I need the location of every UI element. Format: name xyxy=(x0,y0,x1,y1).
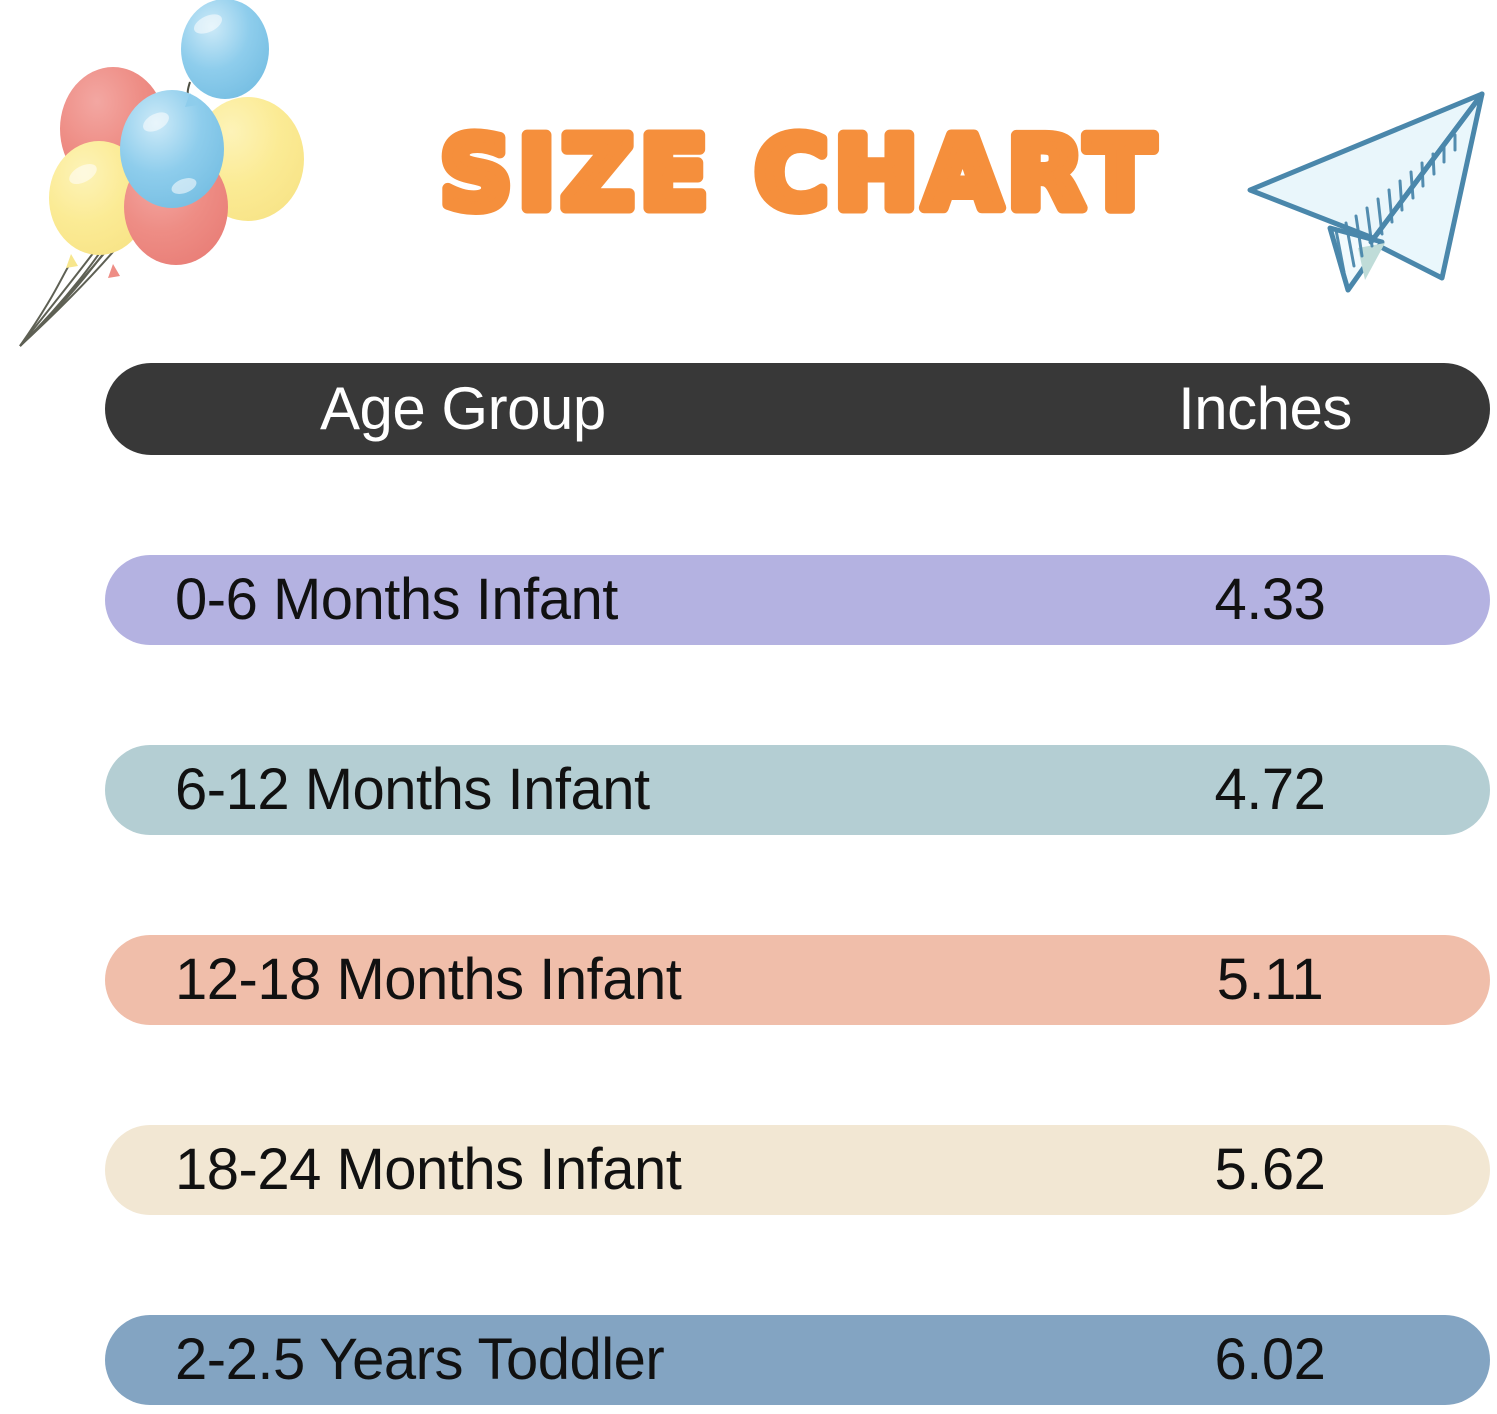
cell-age-group: 0-6 Months Infant xyxy=(175,571,618,629)
paper-airplane-illustration xyxy=(1230,80,1497,310)
table-row[interactable]: 12-18 Months Infant 5.11 xyxy=(105,935,1490,1025)
page-title-artwork: SIZE CHART xyxy=(400,104,1200,244)
size-chart-table: Age Group Inches 0-6 Months Infant 4.33 … xyxy=(105,363,1490,1405)
cell-inches: 4.33 xyxy=(1105,571,1435,629)
cell-inches: 4.72 xyxy=(1105,761,1435,819)
table-row[interactable]: 0-6 Months Infant 4.33 xyxy=(105,555,1490,645)
cell-inches: 5.11 xyxy=(1105,951,1435,1009)
row-gap xyxy=(105,835,1490,935)
table-row[interactable]: 6-12 Months Infant 4.72 xyxy=(105,745,1490,835)
page-title: SIZE CHART xyxy=(400,104,1200,244)
cell-inches: 5.62 xyxy=(1105,1141,1435,1199)
column-header-inches: Inches xyxy=(1085,379,1445,439)
cell-age-group: 12-18 Months Infant xyxy=(175,951,681,1009)
table-row[interactable]: 18-24 Months Infant 5.62 xyxy=(105,1125,1490,1215)
column-header-age-group: Age Group xyxy=(320,379,606,439)
page-title-text: SIZE CHART xyxy=(440,115,1160,232)
cell-age-group: 6-12 Months Infant xyxy=(175,761,650,819)
row-gap xyxy=(105,645,1490,745)
cell-inches: 6.02 xyxy=(1105,1331,1435,1389)
row-gap xyxy=(105,1215,1490,1315)
cell-age-group: 2-2.5 Years Toddler xyxy=(175,1331,664,1389)
row-gap xyxy=(105,1025,1490,1125)
row-gap xyxy=(105,455,1490,555)
table-header-row: Age Group Inches xyxy=(105,363,1490,455)
table-row[interactable]: 2-2.5 Years Toddler 6.02 xyxy=(105,1315,1490,1405)
cell-age-group: 18-24 Months Infant xyxy=(175,1141,681,1199)
balloons-illustration xyxy=(0,0,340,356)
